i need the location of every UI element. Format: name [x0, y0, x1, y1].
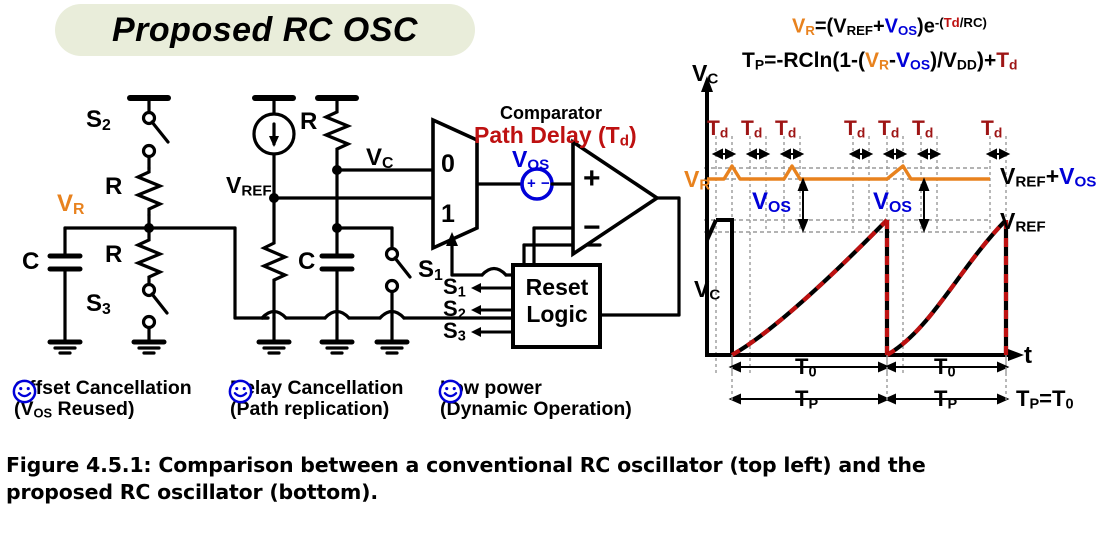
- waveform-chart: [690, 0, 1110, 450]
- switch-s1-label: S1: [418, 258, 443, 284]
- chart-vr-series-label: VR: [684, 168, 710, 193]
- reset-output-s3-label: S3: [443, 320, 466, 344]
- td-label: Td: [707, 118, 728, 140]
- tp-span-label: TP: [934, 388, 957, 412]
- reset-logic-line2: Logic: [524, 303, 590, 326]
- list-item-line2: (Dynamic Operation): [440, 398, 632, 420]
- td-label: Td: [912, 118, 933, 140]
- list-item-text: Offset Cancellation (VOS Reused): [14, 378, 192, 420]
- resistor-r-bottom-left-label: R: [105, 243, 122, 267]
- vos-source-minus-icon: −: [541, 176, 550, 191]
- t0-span-label: T0: [795, 356, 817, 380]
- vc-node-label: VC: [366, 146, 393, 172]
- list-item: Offset Cancellation (VOS Reused): [12, 378, 192, 420]
- level-label-vref-plus-vos: VREF+VOS: [1000, 165, 1096, 190]
- mux-input-1-label: 1: [441, 202, 455, 227]
- benefits-list: Offset Cancellation (VOS Reused) Delay C…: [0, 378, 700, 440]
- smiley-icon: [438, 379, 463, 404]
- switch-s2-label: S2: [86, 108, 111, 134]
- caption-line-1: Figure 4.5.1: Comparison between a conve…: [6, 452, 1114, 479]
- tp-span-label: TP: [795, 388, 818, 412]
- chart-y-axis-label: VC: [692, 62, 718, 87]
- list-item-line1: Offset Cancellation: [14, 377, 192, 399]
- list-item-text: Delay Cancellation (Path replication): [230, 378, 403, 420]
- comparator-minus-input-icon: −: [583, 213, 601, 243]
- t0-span-label: T0: [934, 356, 956, 380]
- td-label: Td: [844, 118, 865, 140]
- capacitor-c-left-label: C: [22, 250, 39, 274]
- vr-node-label: VR: [57, 192, 84, 218]
- td-label: Td: [981, 118, 1002, 140]
- td-label: Td: [775, 118, 796, 140]
- td-label: Td: [741, 118, 762, 140]
- vos-span-label: VOS: [873, 190, 912, 216]
- list-item-line1: Delay Cancellation: [230, 377, 403, 399]
- tp-equals-t0-label: TP=T0: [1016, 388, 1074, 412]
- caption-line-2: proposed RC oscillator (bottom).: [6, 479, 1114, 506]
- smiley-icon: [12, 379, 37, 404]
- td-label: Td: [878, 118, 899, 140]
- comparator-plus-input-icon: +: [583, 164, 601, 194]
- figure-caption: Figure 4.5.1: Comparison between a conve…: [6, 452, 1114, 506]
- vos-source-plus-icon: +: [527, 176, 536, 191]
- level-label-vref: VREF: [1000, 210, 1046, 235]
- list-item: Delay Cancellation (Path replication): [228, 378, 403, 420]
- vos-span-label: VOS: [752, 190, 791, 216]
- smiley-icon: [228, 379, 253, 404]
- vref-label: VREF: [226, 174, 272, 199]
- chart-x-axis-label: t: [1024, 344, 1032, 368]
- comparator-label: Comparator: [500, 104, 602, 122]
- list-item: Low power (Dynamic Operation): [438, 378, 632, 420]
- resistor-r-mid-label: R: [300, 110, 317, 134]
- path-delay-label: Path Delay (Td): [474, 124, 637, 149]
- figure-root: Proposed RC OSC: [0, 0, 1120, 534]
- chart-vc-series-label: VC: [694, 278, 720, 303]
- vos-source-label: VOS: [512, 148, 549, 173]
- list-item-line2: (Path replication): [230, 398, 389, 420]
- capacitor-c-mid-label: C: [298, 250, 315, 274]
- switch-s3-label: S3: [86, 292, 111, 318]
- mux-input-0-label: 0: [441, 152, 455, 177]
- list-item-text: Low power (Dynamic Operation): [440, 378, 632, 420]
- resistor-r-top-left-label: R: [105, 175, 122, 199]
- reset-logic-line1: Reset: [524, 276, 590, 299]
